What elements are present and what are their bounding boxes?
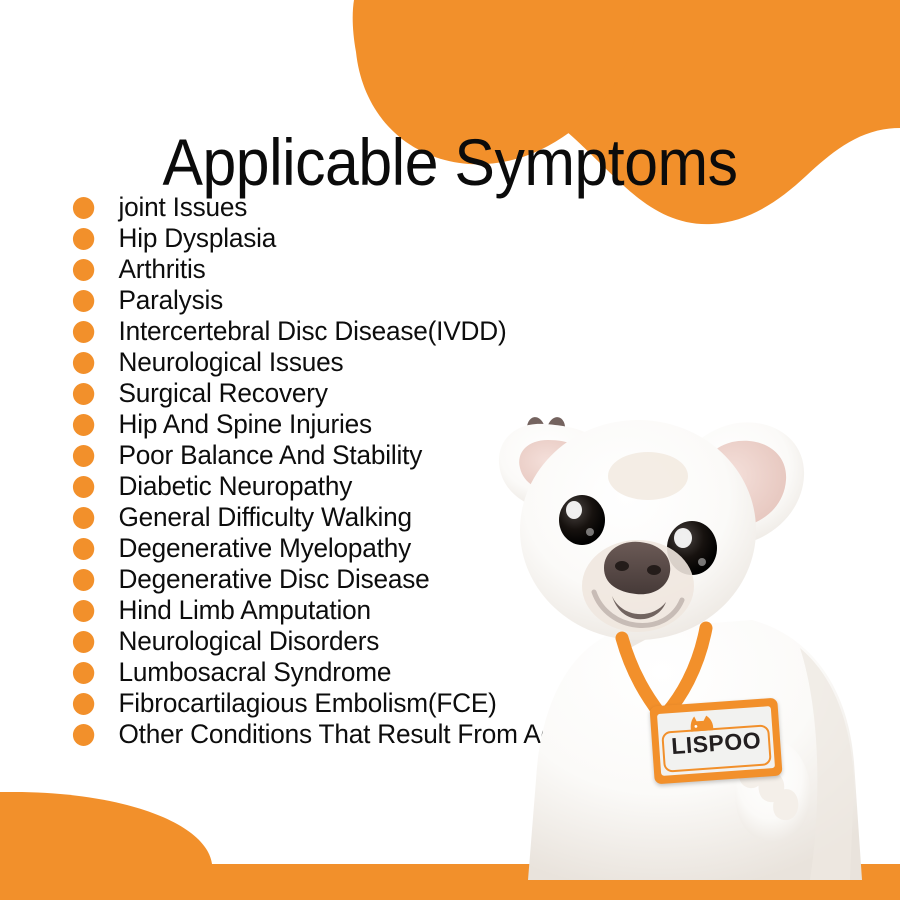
symptom-label: General Difficulty Walking <box>119 502 412 532</box>
symptom-label: joint Issues <box>119 192 248 222</box>
list-item: joint Issues <box>70 192 633 223</box>
bullet-icon <box>73 600 94 622</box>
symptom-label: Arthritis <box>119 254 206 284</box>
symptom-label: Poor Balance And Stability <box>119 440 423 470</box>
page-title: Applicable Symptoms <box>36 126 864 198</box>
list-item: Paralysis <box>70 285 633 316</box>
orange-curve-shape <box>0 792 212 864</box>
dog-head <box>520 420 756 640</box>
lispoo-badge: LISPOO <box>649 698 782 785</box>
bullet-icon <box>73 538 94 560</box>
symptom-label: Lumbosacral Syndrome <box>119 657 392 687</box>
symptom-label: Diabetic Neuropathy <box>119 471 353 501</box>
bullet-icon <box>73 445 94 467</box>
bullet-icon <box>73 197 94 219</box>
bullet-icon <box>73 352 94 374</box>
bullet-icon <box>73 724 94 746</box>
list-item: Arthritis <box>70 254 633 285</box>
symptom-label: Fibrocartilagious Embolism(FCE) <box>119 688 497 718</box>
list-item: Neurological Issues <box>70 347 633 378</box>
bullet-icon <box>73 693 94 715</box>
bullet-icon <box>73 383 94 405</box>
bullet-icon <box>73 476 94 498</box>
list-item: Intercertebral Disc Disease(IVDD) <box>70 316 633 347</box>
bullet-icon <box>73 290 94 312</box>
symptom-label: Surgical Recovery <box>119 378 328 408</box>
bullet-icon <box>73 662 94 684</box>
dog-photo <box>470 380 900 880</box>
dog-eye-left <box>559 495 605 545</box>
symptom-label: Hip Dysplasia <box>119 223 277 253</box>
bullet-icon <box>73 414 94 436</box>
symptom-label: Neurological Issues <box>119 347 344 377</box>
symptom-label: Hip And Spine Injuries <box>119 409 372 439</box>
symptom-label: Paralysis <box>119 285 224 315</box>
bullet-icon <box>73 631 94 653</box>
bullet-icon <box>73 321 94 343</box>
symptom-label: Intercertebral Disc Disease(IVDD) <box>119 316 507 346</box>
symptom-label: Degenerative Disc Disease <box>119 564 430 594</box>
bullet-icon <box>73 507 94 529</box>
bullet-icon <box>73 228 94 250</box>
symptom-label: Neurological Disorders <box>119 626 380 656</box>
poster-canvas: Applicable Symptoms joint Issues Hip Dys… <box>0 0 900 900</box>
bullet-icon <box>73 569 94 591</box>
list-item: Hip Dysplasia <box>70 223 633 254</box>
symptom-label: Hind Limb Amputation <box>119 595 371 625</box>
symptom-label: Degenerative Myelopathy <box>119 533 412 563</box>
bullet-icon <box>73 259 94 281</box>
